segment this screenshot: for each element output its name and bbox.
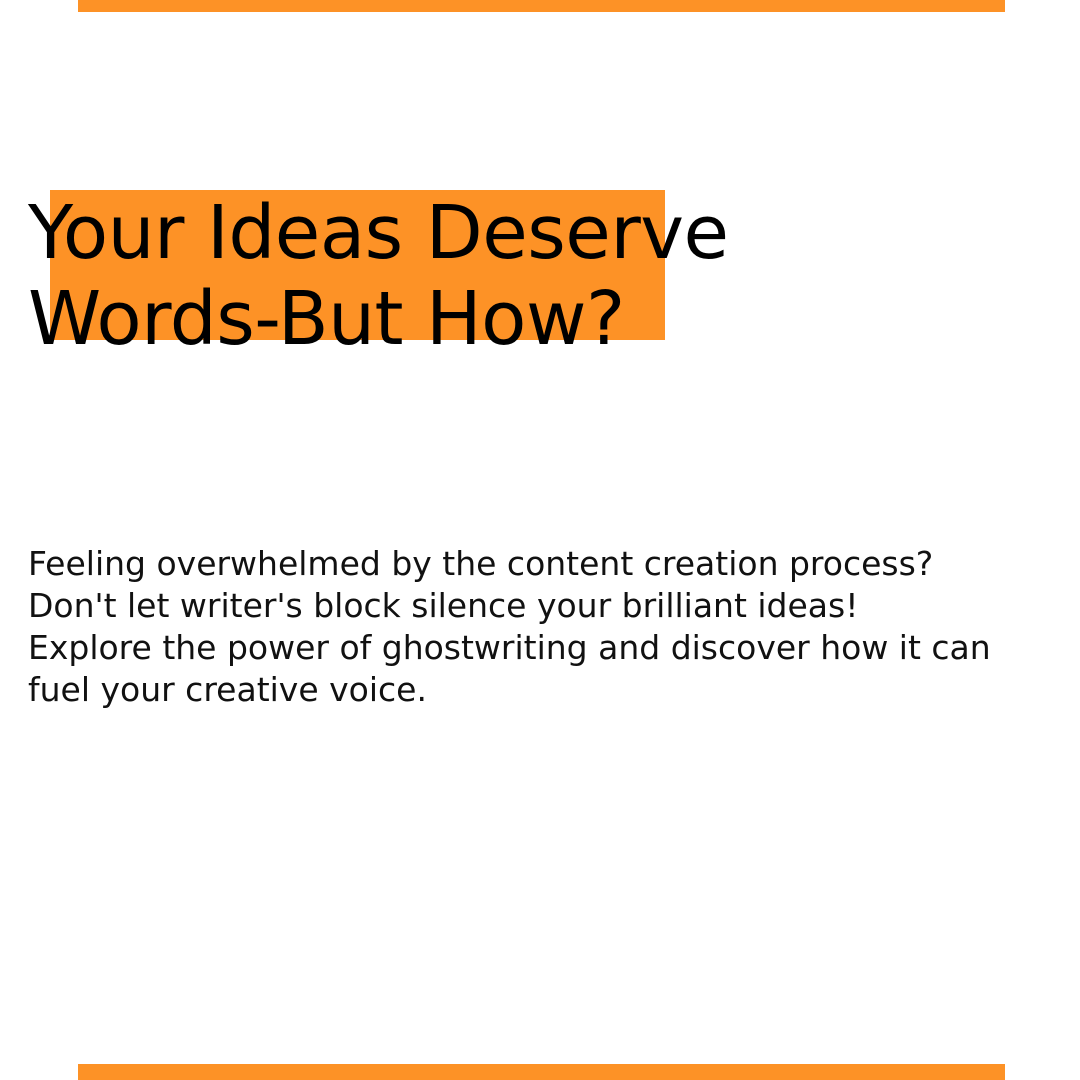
top-accent-rule: [78, 0, 1005, 12]
page-title: Your Ideas Deserve Words-But How?: [28, 190, 1058, 362]
footer: ghostwritingnerds.com: [0, 985, 1080, 1055]
headline-block: Your Ideas Deserve Words-But How?: [0, 190, 1080, 420]
bottom-accent-rule: [78, 1064, 1005, 1080]
promo-card: Your Ideas Deserve Words-But How? Feelin…: [0, 0, 1080, 1080]
body-paragraph: Feeling overwhelmed by the content creat…: [28, 543, 1063, 711]
